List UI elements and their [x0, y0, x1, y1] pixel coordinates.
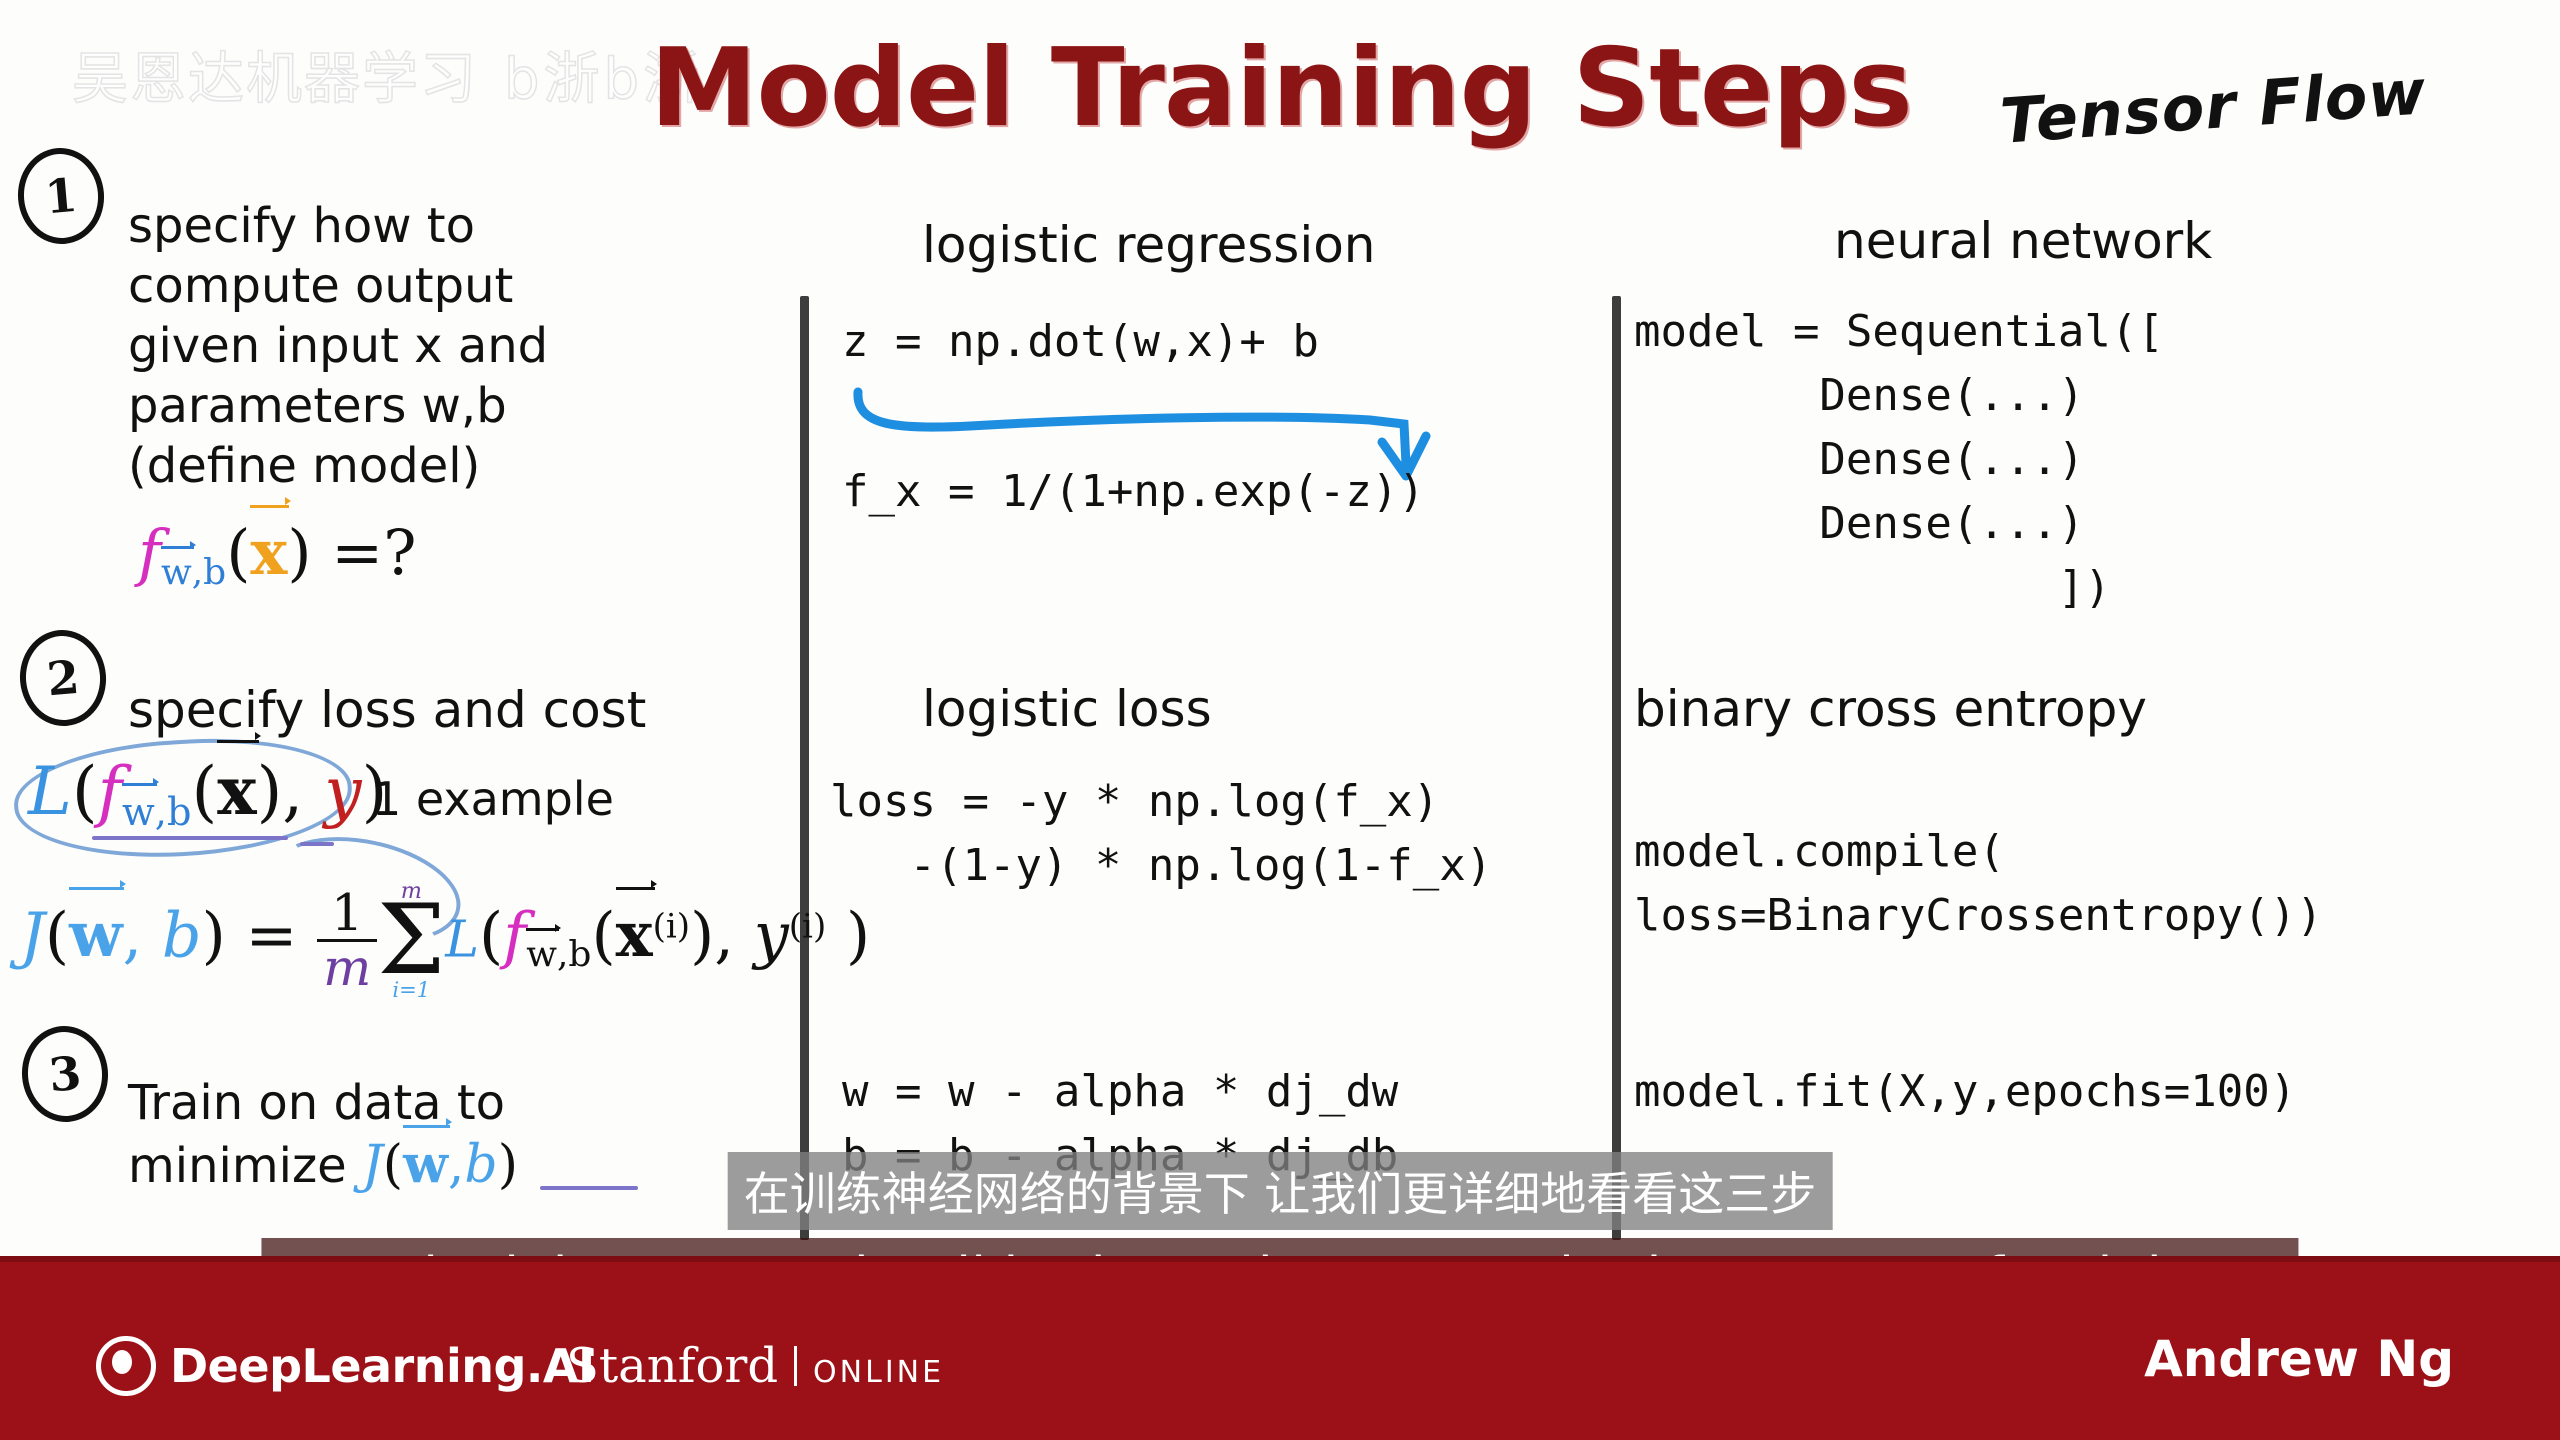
middle-code-fx: f_x = 1/(1+np.exp(-z))	[842, 460, 1425, 524]
step-1-description: specify how to compute output given inpu…	[128, 196, 548, 496]
right-code-sequential: model = Sequential([ Dense(...) Dense(..…	[1634, 300, 2164, 620]
page-title: Model Training Steps	[650, 26, 1912, 151]
underline-J	[540, 1186, 638, 1190]
stanford-divider	[794, 1346, 797, 1386]
presenter-name: Andrew Ng	[2144, 1330, 2454, 1388]
watermark-primary: 吴恩达机器学习	[72, 47, 478, 112]
right-code-compile: model.compile( loss=BinaryCrossentropy()…	[1634, 820, 2323, 948]
middle-code-loss: loss = -y * np.log(f_x) -(1-y) * np.log(…	[830, 770, 1492, 898]
deeplearning-logo: DeepLearning.AI	[96, 1336, 595, 1396]
stanford-online-logo: Stanford ONLINE	[566, 1338, 944, 1394]
subtitle-chinese: 在训练神经网络的背景下 让我们更详细地看看这三步	[728, 1152, 1833, 1230]
right-heading-neural-network: neural network	[1834, 212, 2212, 270]
step-number-1: 1	[14, 144, 108, 247]
handwritten-tensorflow-note: Tensor Flow	[1998, 55, 2429, 158]
minimize-J-formula: J(w,b)	[362, 1135, 518, 1195]
model-function-formula: fw,b(x) =?	[138, 516, 416, 593]
step-2-description: specify loss and cost	[128, 680, 646, 740]
slide-canvas: 吴恩达机器学习b浙b浙 Model Training Steps Tensor …	[0, 0, 2560, 1440]
step-number-2: 2	[16, 626, 110, 729]
underline-f	[92, 836, 288, 840]
deeplearning-mark-icon	[96, 1336, 156, 1396]
online-label: ONLINE	[813, 1355, 944, 1390]
column-divider-right	[1612, 296, 1621, 1240]
one-example-label: 1 example	[372, 772, 614, 826]
step-3-description: Train on data to minimize J(w,b)	[128, 1072, 518, 1197]
loss-function-formula: L(fw,b(x), y)	[28, 752, 387, 835]
column-divider-left	[800, 296, 809, 1240]
step-number-3: 3	[18, 1022, 112, 1125]
underline-y	[300, 842, 334, 846]
deeplearning-label: DeepLearning.AI	[170, 1339, 595, 1393]
middle-code-z: z = np.dot(w,x)+ b	[842, 310, 1319, 374]
watermark: 吴恩达机器学习b浙b浙	[72, 34, 703, 115]
stanford-label: Stanford	[566, 1338, 778, 1394]
middle-heading-logistic-loss: logistic loss	[922, 680, 1212, 738]
right-code-fit: model.fit(X,y,epochs=100)	[1634, 1060, 2296, 1124]
middle-heading-logistic-regression: logistic regression	[922, 216, 1376, 274]
right-heading-binary-cross-entropy: binary cross entropy	[1634, 680, 2147, 738]
cost-function-formula: J(w, b) = 1mmΣi=1L(fw,b(x(i)), y(i) )	[20, 880, 870, 1000]
footer-bar: DeepLearning.AI Stanford ONLINE Andrew N…	[0, 1262, 2560, 1440]
